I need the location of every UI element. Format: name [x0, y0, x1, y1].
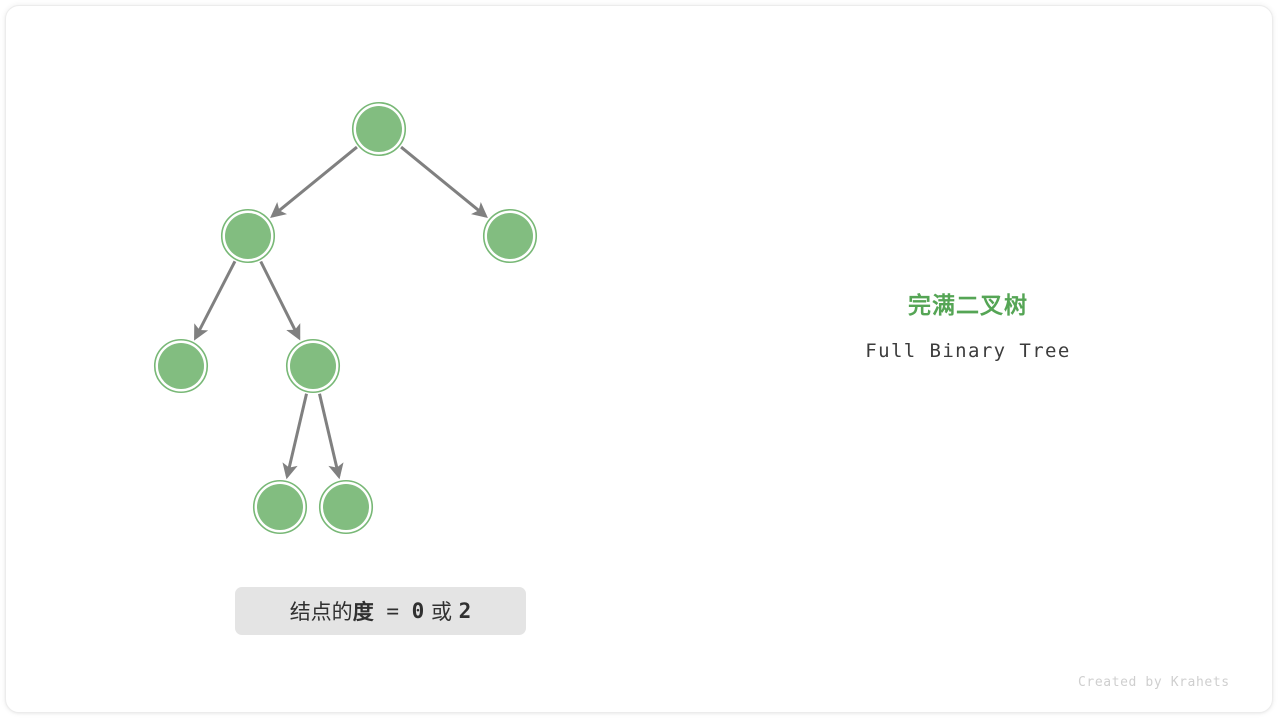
- tree-node-circle: [323, 484, 369, 530]
- caption-part-degree: 度: [353, 596, 374, 626]
- tree-node-circle: [356, 106, 402, 152]
- tree-node-circle: [290, 343, 336, 389]
- tree-node: [287, 340, 340, 393]
- tree-edge: [261, 261, 299, 337]
- title-english: Full Binary Tree: [768, 339, 1168, 363]
- credit-text: Created by Krahets: [1078, 675, 1230, 690]
- title-chinese: 完满二叉树: [768, 292, 1168, 320]
- title-block: 完满二叉树 Full Binary Tree: [768, 292, 1168, 363]
- caption-part-equals: =: [374, 599, 412, 623]
- tree-node: [222, 210, 275, 263]
- caption-badge: 结点的度 = 0 或 2: [235, 587, 526, 635]
- tree-edge: [401, 147, 486, 216]
- tree-node: [484, 210, 537, 263]
- edge-layer: [195, 147, 485, 476]
- tree-node: [353, 103, 406, 156]
- tree-node-circle: [225, 213, 271, 259]
- tree-edge: [195, 261, 235, 338]
- caption-part-prefix: 结点的: [290, 596, 353, 626]
- tree-edge: [287, 394, 306, 477]
- tree-edge: [319, 394, 338, 477]
- caption-part-or: 或: [424, 596, 458, 626]
- tree-node-circle: [158, 343, 204, 389]
- tree-node-circle: [487, 213, 533, 259]
- tree-node: [320, 481, 373, 534]
- diagram-canvas: 完满二叉树 Full Binary Tree 结点的度 = 0 或 2 Crea…: [0, 0, 1280, 720]
- caption-part-zero: 0: [412, 599, 425, 623]
- tree-node: [155, 340, 208, 393]
- tree-edge: [272, 147, 357, 216]
- node-layer: [155, 103, 537, 534]
- tree-node: [254, 481, 307, 534]
- caption-part-two: 2: [459, 599, 472, 623]
- tree-node-circle: [257, 484, 303, 530]
